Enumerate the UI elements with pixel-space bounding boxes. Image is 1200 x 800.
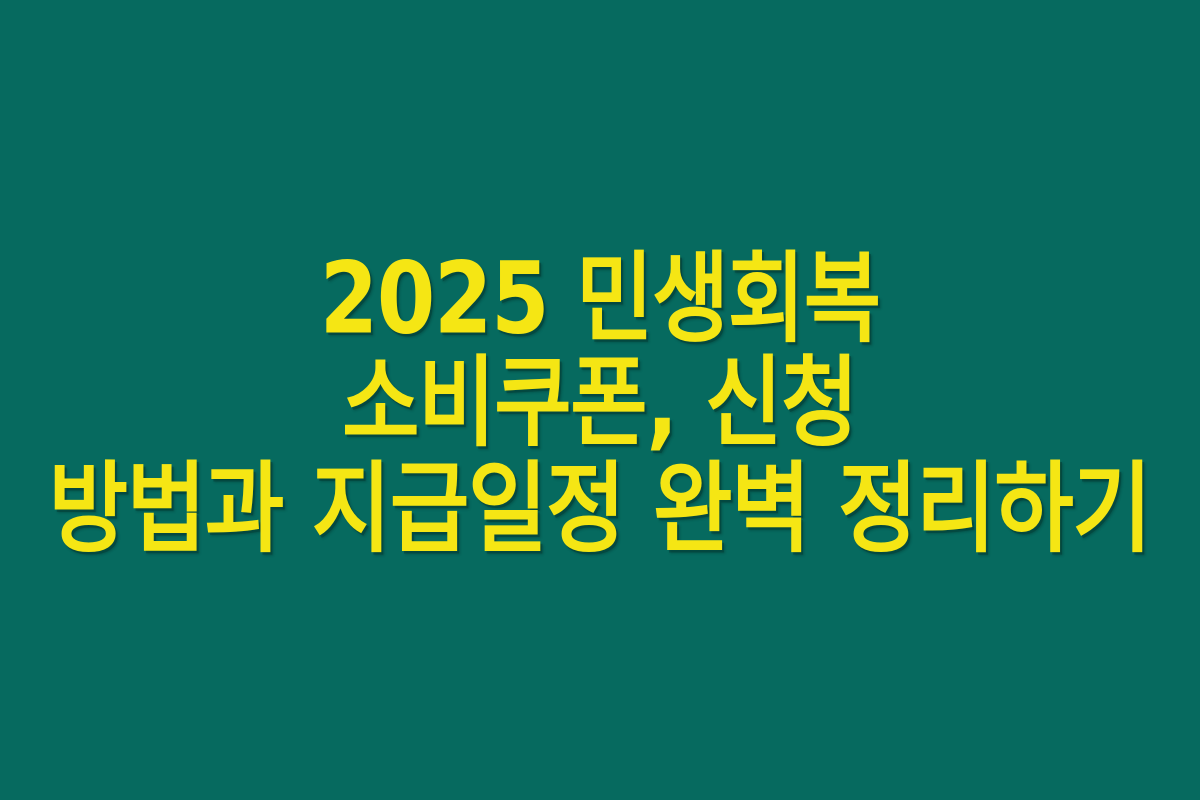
title-line-2: 소비쿠폰, 신청 [342,354,857,453]
thumbnail-banner: 2025 민생회복 소비쿠폰, 신청 방법과 지급일정 완벽 정리하기 [0,0,1200,800]
title-block: 2025 민생회복 소비쿠폰, 신청 방법과 지급일정 완벽 정리하기 [0,255,1200,553]
title-line-3: 방법과 지급일정 완벽 정리하기 [49,460,1151,559]
title-line-1: 2025 민생회복 [320,250,880,349]
